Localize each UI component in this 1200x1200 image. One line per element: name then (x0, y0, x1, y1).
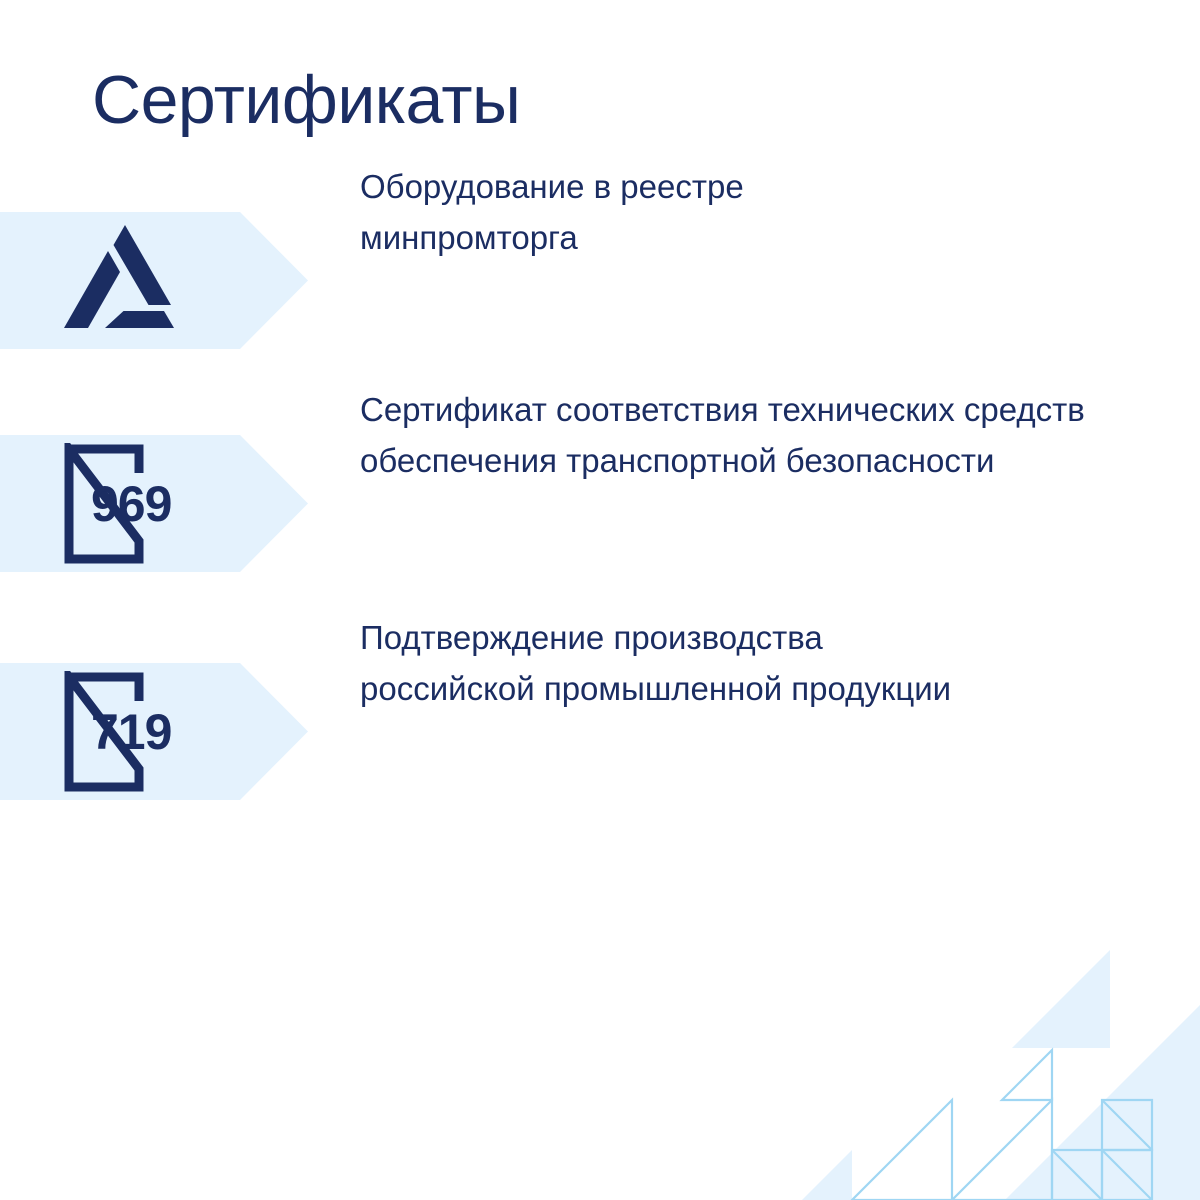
certificate-text: Оборудование в реестре минпромторга (360, 161, 920, 263)
triangle-pattern-decoration (780, 900, 1200, 1200)
certificate-icon-wrap: 719 (0, 663, 250, 800)
page-title: Сертификаты (92, 58, 520, 142)
certificate-icon-wrap: 969 (0, 435, 250, 572)
certificates-slide: Сертификаты Оборудование в реестре минпр… (0, 0, 1200, 1200)
certificate-badge-number: 719 (91, 707, 171, 757)
certificate-text: Подтверждение производства российской пр… (360, 612, 1000, 714)
certificate-text: Сертификат соответствия технических сред… (360, 384, 1100, 486)
minpromtorg-triangle-logo-icon (64, 225, 186, 336)
certificate-icon-wrap (0, 212, 250, 349)
certificate-badge-number: 969 (91, 479, 171, 529)
certificate-number-frame-icon: 719 (55, 671, 195, 793)
certificate-number-frame-icon: 969 (55, 443, 195, 565)
